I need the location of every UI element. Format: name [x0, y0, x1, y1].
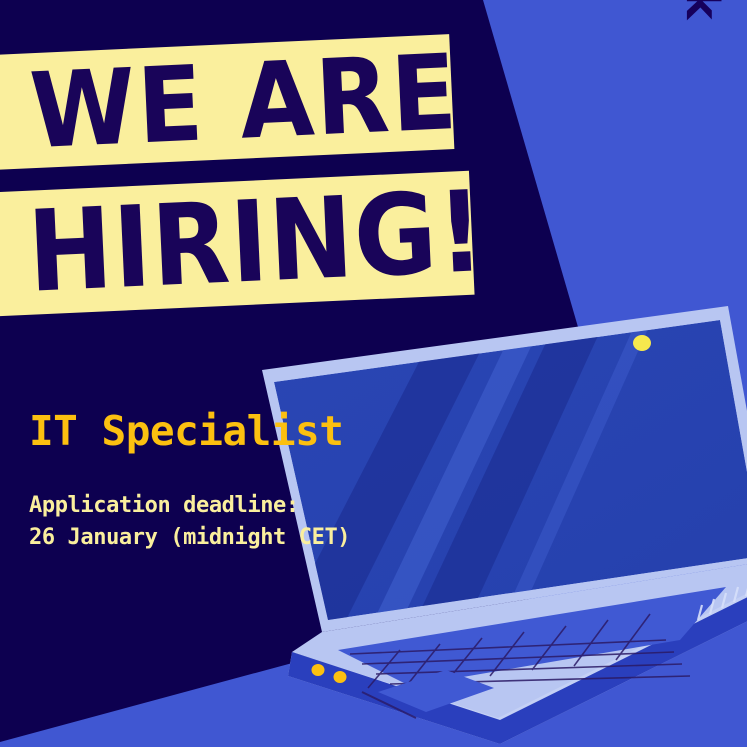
- headline-banner-we-are: WE ARE: [0, 34, 454, 171]
- laptop-led-indicator-1: [312, 664, 325, 676]
- headline-line-2: HIRING!: [26, 176, 487, 309]
- eurodesk-logo: eurodesk: [676, 0, 728, 18]
- job-deadline-label: Application deadline:: [29, 490, 350, 522]
- headline-banner-hiring: HIRING!: [0, 171, 475, 318]
- job-deadline-block: Application deadline: 26 January (midnig…: [29, 490, 350, 554]
- headline-line-1: WE ARE: [28, 39, 461, 162]
- poster-canvas: eurodesk WE ARE HIRING! IT Specialist Ap…: [0, 0, 747, 747]
- job-deadline-value: 26 January (midnight CET): [29, 522, 350, 554]
- job-role-title: IT Specialist: [29, 407, 343, 455]
- laptop-led-indicator-2: [334, 671, 347, 683]
- eurodesk-logo-text: eurodesk: [676, 0, 728, 18]
- laptop-webcam-icon: [633, 335, 651, 351]
